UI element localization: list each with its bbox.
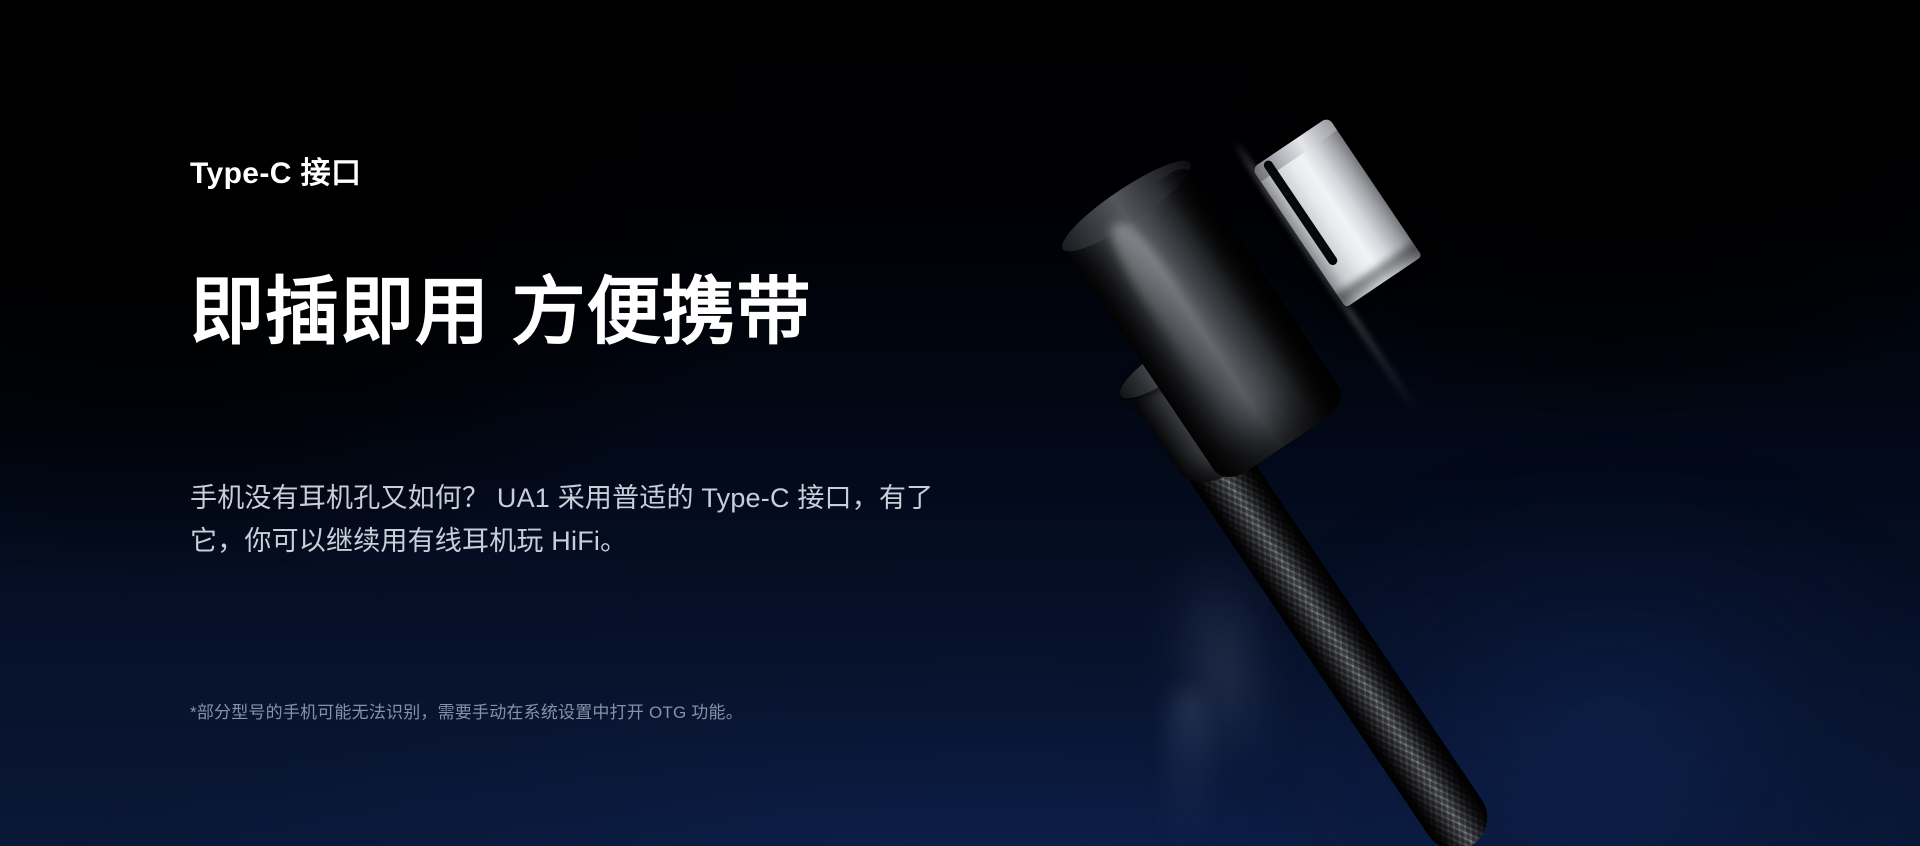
- footnote-disclaimer: *部分型号的手机可能无法识别，需要手动在系统设置中打开 OTG 功能。: [190, 700, 743, 726]
- text-column: Type-C 接口 即插即用 方便携带 手机没有耳机孔又如何？ UA1 采用普适…: [190, 0, 1050, 846]
- tip-bevel: [1252, 117, 1337, 182]
- usb-c-connector-image: [1080, 80, 1920, 846]
- page-title: 即插即用 方便携带: [190, 274, 812, 351]
- tip-slot: [1262, 159, 1339, 267]
- product-feature-banner: Type-C 接口 即插即用 方便携带 手机没有耳机孔又如何？ UA1 采用普适…: [0, 0, 1920, 846]
- tip-base-shadow: [1334, 241, 1429, 315]
- body-description: 手机没有耳机孔又如何？ UA1 采用普适的 Type-C 接口，有了它，你可以继…: [190, 477, 980, 562]
- eyebrow-label: Type-C 接口: [190, 148, 361, 192]
